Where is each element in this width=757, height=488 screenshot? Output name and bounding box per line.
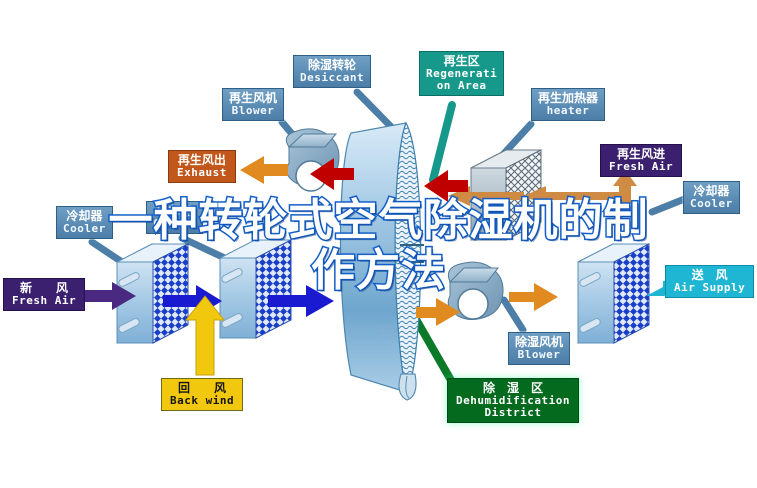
desiccant-rotor [340, 123, 424, 400]
label-regeneration-heater-en: heater [538, 105, 598, 117]
label-regeneration-area-en2: on Area [426, 80, 497, 92]
label-regeneration-blower-en: Blower [229, 105, 277, 117]
cooler-coil-3 [578, 244, 649, 343]
label-air-supply-cn: 送 风 [674, 269, 745, 282]
label-air-supply-en: Air Supply [674, 282, 745, 294]
label-exhaust: 再生风出 Exhaust [168, 150, 236, 183]
label-cooler-right-cn: 冷却器 [690, 185, 733, 198]
diagram-graphics [0, 0, 757, 488]
label-cooler-right-en: Cooler [690, 198, 733, 210]
label-back-wind: 回 风 Back wind [161, 378, 243, 411]
label-dehumidification-blower-en: Blower [515, 349, 563, 361]
label-cooler-right: 冷却器 Cooler [683, 181, 740, 214]
label-regeneration-blower-cn: 再生风机 [229, 92, 277, 105]
label-dehumidification-district: 除 湿 区 Dehumidification District [447, 378, 579, 423]
blower-to-cooler3 [509, 283, 558, 311]
label-fresh-air-inlet: 新 风 Fresh Air [3, 278, 85, 311]
label-cooler-mid-cn: 冷却器 [153, 205, 196, 218]
dehumidifier-diagram: xt 除湿转轮 Desiccant 再生风机 Blower 再生区 Regene… [0, 0, 757, 488]
regen-blower-to-exhaust [240, 156, 288, 184]
label-regeneration-area: 再生区 Regenerati on Area [419, 51, 504, 96]
label-exhaust-en: Exhaust [177, 167, 227, 179]
label-regeneration-area-cn: 再生区 [426, 55, 497, 68]
label-dehumidification-district-cn: 除 湿 区 [456, 382, 570, 395]
label-desiccant-wheel-en: Desiccant [300, 72, 364, 84]
label-fresh-air-inlet-cn: 新 风 [12, 282, 76, 295]
label-regeneration-fresh-air-cn: 再生风进 [609, 148, 673, 161]
label-exhaust-cn: 再生风出 [177, 154, 227, 167]
label-air-supply: 送 风 Air Supply [665, 265, 754, 298]
label-regeneration-blower: 再生风机 Blower [222, 88, 284, 121]
label-regeneration-heater: 再生加热器 heater [531, 88, 605, 121]
label-cooler-left-en: Cooler [63, 223, 106, 235]
label-regeneration-heater-cn: 再生加热器 [538, 92, 598, 105]
label-dehumidification-blower-cn: 除湿风机 [515, 336, 563, 349]
cooler-coil-2 [220, 240, 291, 338]
label-back-wind-en: Back wind [170, 395, 234, 407]
label-cooler-left: 冷却器 Cooler [56, 206, 113, 239]
label-cooler-left-cn: 冷却器 [63, 210, 106, 223]
label-desiccant-wheel: 除湿转轮 Desiccant [293, 55, 371, 88]
label-regeneration-fresh-air: 再生风进 Fresh Air [600, 144, 682, 177]
label-cooler-mid-en: Cooler [153, 218, 196, 230]
label-desiccant-wheel-cn: 除湿转轮 [300, 59, 364, 72]
back-wind-up-arrow [186, 296, 224, 375]
label-back-wind-cn: 回 风 [170, 382, 234, 395]
label-fresh-air-inlet-en: Fresh Air [12, 295, 76, 307]
label-cooler-mid: 冷却器 Cooler [146, 201, 203, 234]
label-dehumidification-district-en2: District [456, 407, 570, 419]
label-dehumidification-blower: 除湿风机 Blower [508, 332, 570, 365]
label-regeneration-fresh-air-en: Fresh Air [609, 161, 673, 173]
